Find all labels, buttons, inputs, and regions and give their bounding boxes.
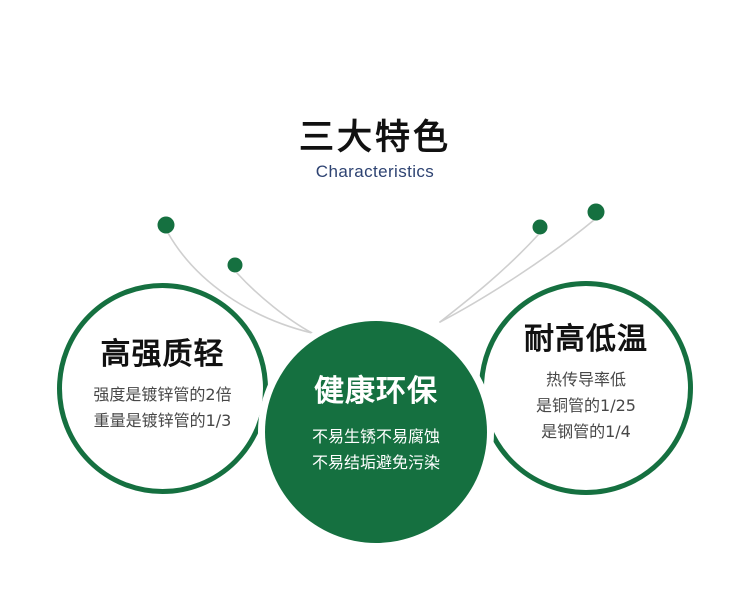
infographic-canvas: 三大特色 Characteristics 高强质轻 强度是镀锌管的2倍 重量是镀… <box>0 0 750 599</box>
dot-right-outer-icon <box>588 204 605 221</box>
feature-circle-strength[interactable]: 高强质轻 强度是镀锌管的2倍 重量是镀锌管的1/3 <box>57 283 268 494</box>
feature-title-strength: 高强质轻 <box>101 337 225 373</box>
feature-title-health: 健康环保 <box>314 374 438 410</box>
dot-right-inner-icon <box>533 220 548 235</box>
dot-left-outer-icon <box>158 217 175 234</box>
feature-body-temperature: 热传导率低 是铜管的1/25 是钢管的1/4 <box>536 367 636 445</box>
feature-line: 不易生锈不易腐蚀 <box>312 424 440 450</box>
feature-line: 不易结垢避免污染 <box>312 450 440 476</box>
feature-line: 是铜管的1/25 <box>536 393 636 419</box>
feature-body-health: 不易生锈不易腐蚀 不易结垢避免污染 <box>312 424 440 476</box>
heading-block: 三大特色 Characteristics <box>0 118 750 183</box>
feature-line: 重量是镀锌管的1/3 <box>93 408 231 434</box>
page-subtitle: Characteristics <box>0 161 750 183</box>
feature-line: 热传导率低 <box>536 367 636 393</box>
page-title: 三大特色 <box>0 118 750 158</box>
connector-line-left-inner <box>237 273 312 333</box>
feature-circle-temperature[interactable]: 耐高低温 热传导率低 是铜管的1/25 是钢管的1/4 <box>479 281 693 495</box>
feature-title-temperature: 耐高低温 <box>524 322 648 358</box>
feature-body-strength: 强度是镀锌管的2倍 重量是镀锌管的1/3 <box>93 382 231 434</box>
feature-line: 强度是镀锌管的2倍 <box>93 382 231 408</box>
dot-left-inner-icon <box>228 258 243 273</box>
feature-line: 是钢管的1/4 <box>536 419 636 445</box>
feature-circle-health[interactable]: 健康环保 不易生锈不易腐蚀 不易结垢避免污染 <box>265 321 487 543</box>
